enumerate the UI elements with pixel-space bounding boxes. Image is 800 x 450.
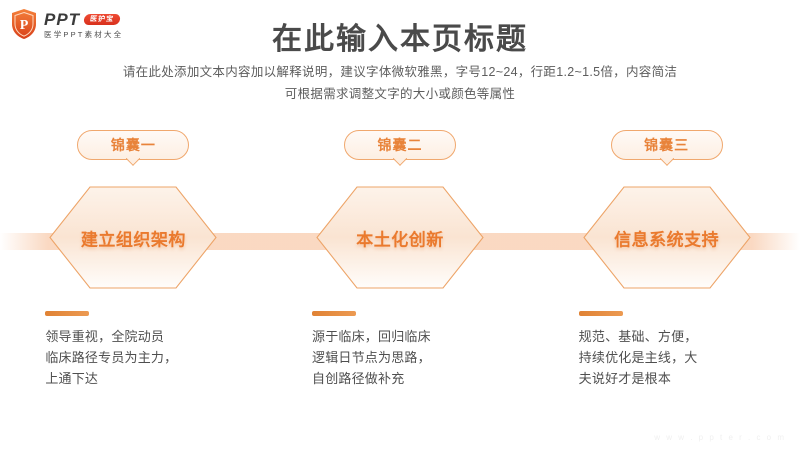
column-3: 锦囊三 信息系统支持: [533, 130, 800, 389]
badge-1-tail-icon: [126, 158, 140, 167]
hexagon-1[interactable]: 建立组织架构: [48, 185, 218, 290]
badge-1[interactable]: 锦囊一: [77, 130, 189, 160]
badge-3-label: 锦囊三: [644, 135, 689, 155]
body-2-line-1: 源于临床，回归临床: [312, 326, 431, 347]
column-1: 锦囊一 建立组织架构: [0, 130, 267, 389]
badge-1-label: 锦囊一: [111, 135, 156, 155]
divider-dash-3: [579, 311, 623, 316]
slide-canvas: P PPT 医护宝 医学PPT素材大全 在此输入本页标题 请在此处添加文本内容加…: [0, 0, 800, 450]
hexagon-2[interactable]: 本土化创新: [315, 185, 485, 290]
columns-container: 锦囊一 建立组织架构: [0, 130, 800, 389]
body-3-line-2: 持续优化是主线，大: [579, 347, 698, 368]
body-3-line-1: 规范、基础、方便，: [579, 326, 698, 347]
badge-3-tail-icon: [660, 158, 674, 167]
subtitle-line-2: 可根据需求调整文字的大小或颜色等属性: [95, 84, 705, 106]
divider-dash-2: [312, 311, 356, 316]
page-title: 在此输入本页标题: [0, 14, 800, 58]
badge-2-label: 锦囊二: [378, 135, 423, 155]
body-1-line-2: 临床路径专员为主力，: [45, 347, 177, 368]
body-1-line-3: 上通下达: [45, 368, 177, 389]
hexagon-3-label: 信息系统支持: [582, 225, 752, 250]
badge-2[interactable]: 锦囊二: [344, 130, 456, 160]
body-2-line-3: 自创路径做补充: [312, 368, 431, 389]
badge-3[interactable]: 锦囊三: [611, 130, 723, 160]
divider-dash-1: [45, 311, 89, 316]
body-text-1: 领导重视，全院动员 临床路径专员为主力， 上通下达: [45, 326, 177, 389]
body-1-line-1: 领导重视，全院动员: [45, 326, 177, 347]
subtitle-line-1: 请在此处添加文本内容加以解释说明，建议字体微软雅黑，字号12~24，行距1.2~…: [95, 62, 705, 84]
body-text-3: 规范、基础、方便， 持续优化是主线，大 夫说好才是根本: [579, 326, 698, 389]
column-2: 锦囊二 本土化创新: [267, 130, 534, 389]
body-3-line-3: 夫说好才是根本: [579, 368, 698, 389]
hexagon-1-label: 建立组织架构: [48, 225, 218, 250]
hexagon-2-label: 本土化创新: [315, 225, 485, 250]
page-subtitle: 请在此处添加文本内容加以解释说明，建议字体微软雅黑，字号12~24，行距1.2~…: [95, 62, 705, 106]
body-text-2: 源于临床，回归临床 逻辑日节点为思路， 自创路径做补充: [312, 326, 431, 389]
body-2-line-2: 逻辑日节点为思路，: [312, 347, 431, 368]
badge-2-tail-icon: [393, 158, 407, 167]
hexagon-3[interactable]: 信息系统支持: [582, 185, 752, 290]
watermark: w w w . p p t e r . c o m: [654, 433, 786, 442]
